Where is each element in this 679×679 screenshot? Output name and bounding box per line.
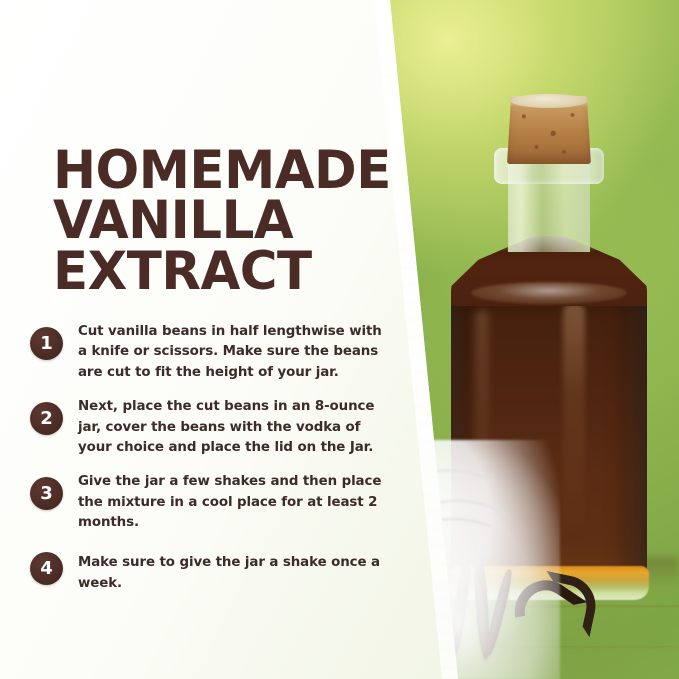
step-item: 2 Next, place the cut beans in an 8-ounc… xyxy=(30,397,400,458)
step-number-badge: 2 xyxy=(30,402,63,435)
step-text: Make sure to give the jar a shake once a… xyxy=(78,553,390,594)
step-number-badge: 4 xyxy=(30,552,63,585)
step-text: Cut vanilla beans in half lengthwise wit… xyxy=(78,322,390,383)
instruction-steps: 1 Cut vanilla beans in half lengthwise w… xyxy=(30,322,400,608)
liquid-surface xyxy=(471,282,627,304)
step-item: 1 Cut vanilla beans in half lengthwise w… xyxy=(30,322,400,383)
page-title: HOMEMADE VANILLA EXTRACT xyxy=(53,146,383,299)
bottle-highlight xyxy=(563,302,585,542)
title-line-2: VANILLA xyxy=(53,196,383,247)
step-text: Next, place the cut beans in an 8-ounce … xyxy=(78,397,390,458)
title-line-1: HOMEMADE xyxy=(53,146,383,197)
text-content: HOMEMADE VANILLA EXTRACT 1 Cut vanilla b… xyxy=(0,0,400,679)
step-item: 4 Make sure to give the jar a shake once… xyxy=(30,547,400,594)
step-item: 3 Give the jar a few shakes and then pla… xyxy=(30,472,400,533)
cork-top-surface xyxy=(511,94,587,108)
vanilla-extract-infographic: HOMEMADE VANILLA EXTRACT 1 Cut vanilla b… xyxy=(0,0,679,679)
step-number-badge: 1 xyxy=(30,327,63,360)
step-text: Give the jar a few shakes and then place… xyxy=(78,472,390,533)
step-number-badge: 3 xyxy=(30,477,63,510)
title-line-3: EXTRACT xyxy=(53,247,383,298)
